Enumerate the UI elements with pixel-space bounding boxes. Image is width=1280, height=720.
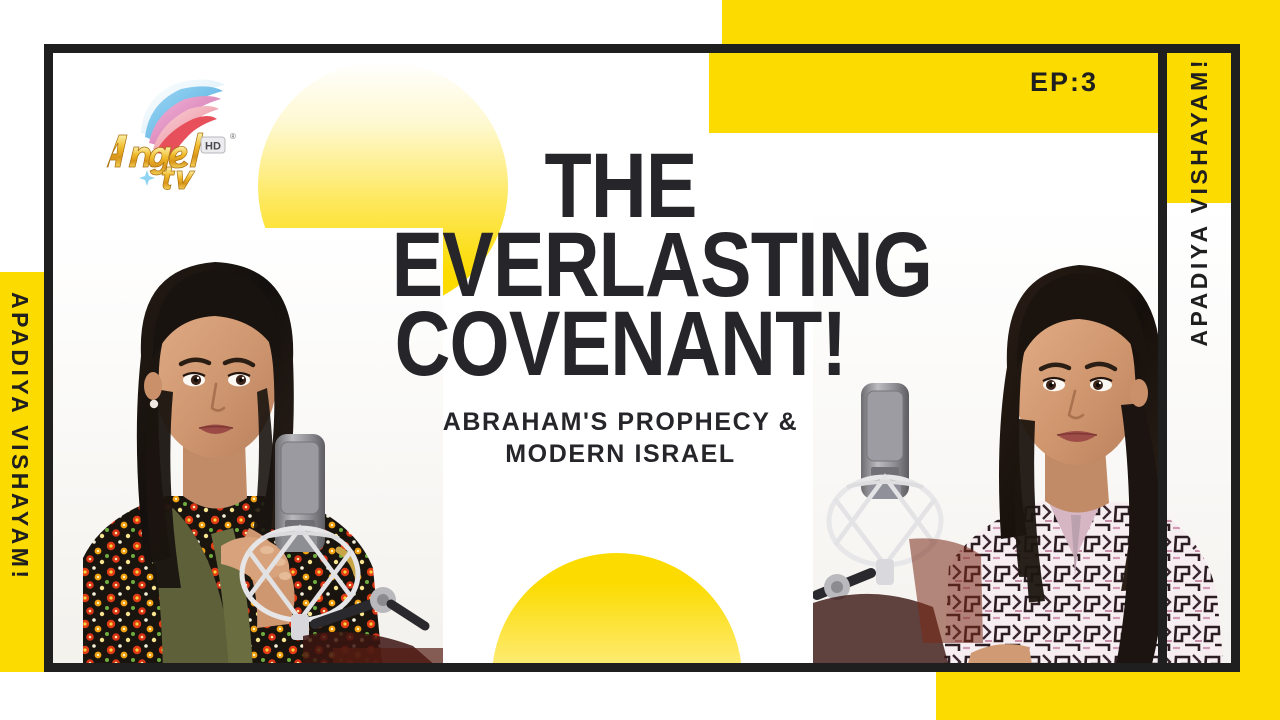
content-frame: EP:3 APADIYA VISHAYAM! <box>44 44 1240 672</box>
side-label-left: APADIYA VISHAYAM! <box>6 292 33 582</box>
subtitle-line-1: ABRAHAM'S PROPHECY & <box>348 406 893 438</box>
episode-badge: EP:3 <box>1030 69 1098 96</box>
subtitle: ABRAHAM'S PROPHECY & MODERN ISRAEL <box>348 406 893 470</box>
frame-inner: EP:3 APADIYA VISHAYAM! <box>53 53 1231 663</box>
title-block: THE EVERLASTING COVENANT! ABRAHAM'S PROP… <box>348 147 893 470</box>
sun-circle-bottom <box>492 553 742 663</box>
svg-text:®: ® <box>230 132 236 141</box>
thumbnail-canvas: APADIYA VISHAYAM! <box>0 0 1280 720</box>
subtitle-line-2: MODERN ISRAEL <box>348 438 893 470</box>
title-line-3: COVENANT! <box>392 305 850 384</box>
svg-text:HD: HD <box>205 141 221 153</box>
frame-yellow-topright <box>709 53 1231 133</box>
angel-tv-logo: HD ® <box>89 75 239 195</box>
side-label-right: APADIYA VISHAYAM! <box>1186 53 1213 347</box>
side-label-right-strip: APADIYA VISHAYAM! <box>1158 53 1231 663</box>
